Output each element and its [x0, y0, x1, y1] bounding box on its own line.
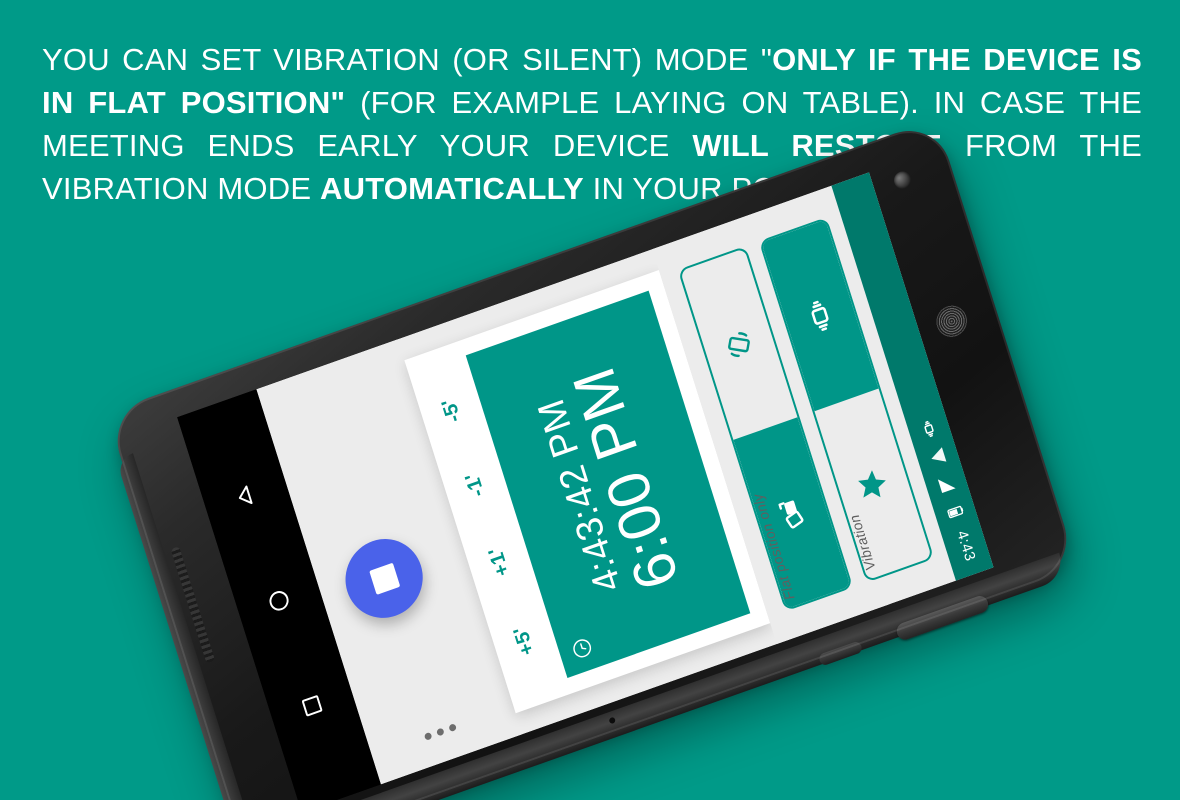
stop-square-icon	[369, 562, 400, 594]
app-content: -5' -1' +1' +5' 4:43:42 PM 6:00 PM	[256, 172, 993, 784]
recents-icon[interactable]	[296, 689, 328, 722]
overflow-menu-icon[interactable]	[424, 723, 457, 741]
vibrate-icon	[918, 417, 940, 440]
headline-part-4: (FOR EXAMPLE LAYING ON TABLE). IN CASE T…	[345, 85, 1142, 120]
headline-part-9: AUTOMATICALLY	[320, 171, 584, 206]
headline-part-8: VIBRATION MODE	[42, 171, 320, 206]
star-icon	[852, 462, 894, 506]
status-bar-clock: 4:43	[953, 528, 978, 563]
phone-device: -5' -1' +1' +5' 4:43:42 PM 6:00 PM	[107, 119, 1078, 800]
stop-fab-button[interactable]	[336, 528, 433, 628]
adjust-plus-1[interactable]: +1'	[484, 544, 514, 579]
battery-icon	[944, 500, 966, 523]
headline-part-3: IN FLAT POSITION"	[42, 85, 345, 120]
adjust-minus-1[interactable]: -1'	[461, 469, 490, 500]
promo-screenshot: YOU CAN SET VIBRATION (OR SILENT) MODE "…	[0, 0, 1180, 800]
toggle-vibration-label: Vibration	[846, 513, 878, 573]
dot	[424, 732, 433, 741]
wifi-icon	[927, 445, 949, 468]
time-values: 4:43:42 PM 6:00 PM	[528, 360, 689, 609]
home-icon[interactable]	[263, 584, 295, 617]
headline-part-1: YOU CAN SET VIBRATION (OR SILENT) MODE "	[42, 42, 772, 77]
adjust-plus-5[interactable]: +5'	[509, 623, 539, 658]
dot	[436, 727, 445, 736]
signal-icon	[935, 473, 957, 496]
headline-part-5: MEETING ENDS EARLY YOUR DEVICE	[42, 128, 692, 163]
vibration-icon	[799, 294, 841, 338]
phone-mockup: -5' -1' +1' +5' 4:43:42 PM 6:00 PM	[0, 230, 1180, 800]
clock-icon	[569, 634, 596, 662]
headline-text: YOU CAN SET VIBRATION (OR SILENT) MODE "…	[42, 38, 1142, 210]
adjust-minus-5[interactable]: -5'	[437, 395, 466, 426]
dot	[448, 723, 457, 732]
headline-part-7: FROM THE	[942, 128, 1142, 163]
screen-rotation-icon	[718, 322, 760, 366]
back-icon[interactable]	[230, 479, 262, 512]
headline-part-2: ONLY IF THE DEVICE IS	[772, 42, 1142, 77]
flip-device-icon	[771, 491, 813, 535]
